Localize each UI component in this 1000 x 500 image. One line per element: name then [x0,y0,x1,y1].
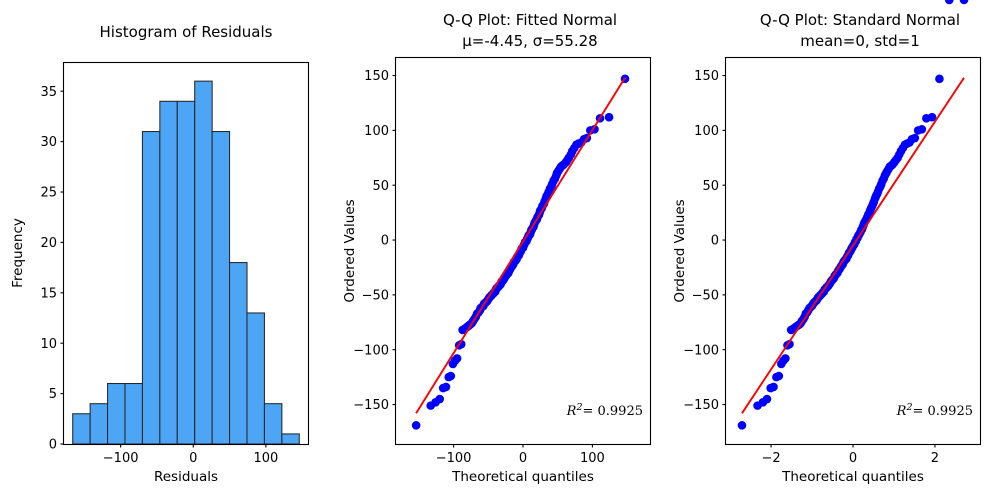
subplot-qq-fitted-normal: Q-Q Plot: Fitted Normal μ=-4.45, σ=55.28… [340,0,670,500]
y-ticklabel: 150 [694,69,719,84]
histogram-bar [177,101,194,444]
x-ticklabel: 0 [189,451,197,466]
histogram-bar [160,101,177,444]
qq-fitted-x-ticks: −1000100 [436,444,605,466]
y-ticklabel: 35 [40,85,57,100]
y-ticklabel: −150 [353,398,389,413]
subplot-qq-standard-normal: Q-Q Plot: Standard Normal mean=0, std=1 … [670,0,1000,500]
qq-standard-r2-annotation: R2= 0.9925 [896,402,973,419]
qq-fitted-svg: Q-Q Plot: Fitted Normal μ=-4.45, σ=55.28… [340,0,670,500]
x-ticklabel: 100 [253,451,278,466]
histogram-xlabel: Residuals [154,469,218,485]
y-ticklabel: −50 [692,288,719,303]
qq-data-point [442,383,451,392]
histogram-bar [108,384,125,444]
qq-data-point [781,354,790,363]
qq-data-point [918,125,927,134]
qq-data-point [412,421,421,430]
matplotlib-figure: Histogram of Residuals 05101520253035 −1… [0,0,1000,500]
y-ticklabel: 15 [40,286,57,301]
y-ticklabel: −100 [683,343,719,358]
qq-standard-svg: Q-Q Plot: Standard Normal mean=0, std=1 … [670,0,1000,500]
qq-fitted-plot-area [412,75,629,430]
x-ticklabel: 0 [519,451,527,466]
y-ticklabel: 0 [49,438,57,453]
histogram-bar [264,404,281,444]
y-ticklabel: 100 [364,124,389,139]
histogram-x-ticks: −1000100 [103,444,279,466]
r2-exponent: 2 [575,402,582,413]
subplot-histogram: Histogram of Residuals 05101520253035 −1… [0,0,340,500]
qq-fitted-ylabel: Ordered Values [342,199,358,302]
histogram-ylabel: Frequency [10,218,26,288]
qq-data-point [911,134,920,143]
qq-reference-line [416,78,625,414]
r2-symbol: R [566,404,577,419]
x-ticklabel: 100 [580,451,605,466]
histogram-bar [142,132,159,444]
qq-standard-plot-area [738,0,969,430]
histogram-bar [195,81,212,444]
qq-data-point [945,0,954,4]
histogram-svg: Histogram of Residuals 05101520253035 −1… [0,0,340,500]
x-ticklabel: −2 [761,451,780,466]
qq-fitted-title-line1: Q-Q Plot: Fitted Normal [443,11,617,29]
qq-standard-y-ticks: −150−100−50050100150 [683,69,726,413]
histogram-bar [73,414,90,444]
r2-value: = 0.9925 [912,404,973,419]
y-ticklabel: 50 [702,179,719,194]
qq-data-point [447,372,456,381]
qq-fitted-xlabel: Theoretical quantiles [451,469,594,485]
qq-data-point [775,372,784,381]
y-ticklabel: −150 [683,398,719,413]
qq-data-point [435,395,444,404]
histogram-title: Histogram of Residuals [100,23,273,41]
y-ticklabel: 0 [381,234,389,249]
qq-fitted-title-line2: μ=-4.45, σ=55.28 [462,32,597,50]
y-ticklabel: 150 [364,69,389,84]
y-ticklabel: 30 [40,135,57,150]
y-ticklabel: −100 [353,343,389,358]
qq-standard-title-line2: mean=0, std=1 [800,32,920,50]
y-ticklabel: 25 [40,186,57,201]
x-ticklabel: 0 [849,451,857,466]
histogram-bar [282,434,299,444]
histogram-bar [125,384,142,444]
y-ticklabel: 0 [711,234,719,249]
histogram-plot-area [73,81,300,444]
y-ticklabel: −50 [362,288,389,303]
histogram-bar [212,132,229,444]
histogram-bar [90,404,107,444]
histogram-bar [230,263,247,444]
qq-reference-line [742,78,964,414]
qq-data-point [763,395,772,404]
qq-standard-x-ticks: −202 [761,444,939,466]
qq-standard-title-line1: Q-Q Plot: Standard Normal [760,11,960,29]
y-ticklabel: 50 [372,179,389,194]
x-ticklabel: 2 [931,451,939,466]
x-ticklabel: −100 [436,451,472,466]
qq-data-point [605,113,614,122]
qq-standard-ylabel: Ordered Values [672,199,688,302]
qq-standard-xlabel: Theoretical quantiles [781,469,924,485]
qq-data-point [738,421,747,430]
r2-value: = 0.9925 [582,404,643,419]
r2-symbol: R [896,404,907,419]
qq-data-point [935,75,944,84]
x-ticklabel: −100 [103,451,139,466]
r2-exponent: 2 [905,402,912,413]
qq-fitted-r2-annotation: R2= 0.9925 [566,402,643,419]
y-ticklabel: 10 [40,337,57,352]
y-ticklabel: 20 [40,236,57,251]
histogram-y-ticks: 05101520253035 [40,85,64,453]
histogram-bar [247,313,264,444]
qq-data-point [960,0,969,4]
y-ticklabel: 5 [49,387,57,402]
y-ticklabel: 100 [694,124,719,139]
qq-data-point [453,354,462,363]
qq-fitted-y-ticks: −150−100−50050100150 [353,69,396,413]
qq-data-point [769,383,778,392]
